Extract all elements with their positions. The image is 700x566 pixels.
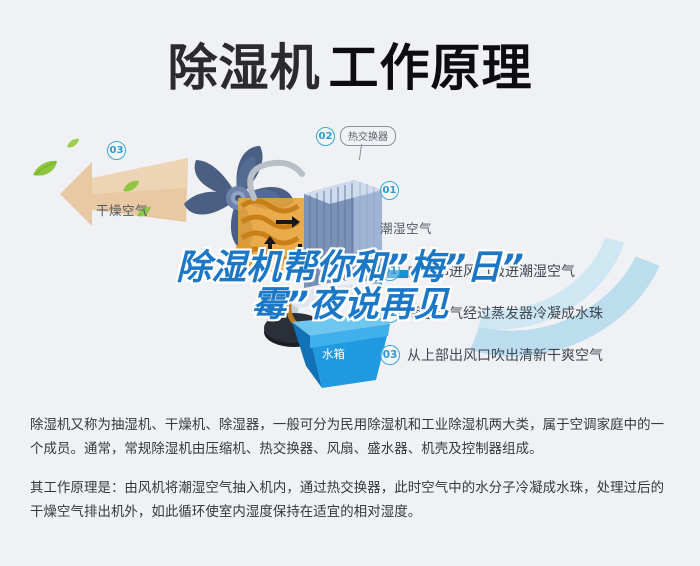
dry-air-badge: 03 <box>107 140 126 160</box>
page-title-topic: 工作原理 <box>329 39 533 97</box>
dehumidifier-diagram: 03 干燥空气 <box>0 118 700 408</box>
process-step-list: 01 由下部进风口吸进潮湿空气 02 潮湿空气经过蒸发器冷凝成水珠 03 从上部… <box>0 250 700 376</box>
process-step: 02 潮湿空气经过蒸发器冷凝成水珠 <box>380 292 700 334</box>
process-step: 03 从上部出风口吹出清新干爽空气 <box>380 334 700 376</box>
process-step-text: 潮湿空气经过蒸发器冷凝成水珠 <box>407 303 603 323</box>
process-step-text: 从上部出风口吹出清新干爽空气 <box>407 345 603 365</box>
dry-air-label: 干燥空气 <box>96 200 148 219</box>
leaf-icon <box>66 138 80 149</box>
page-title: 除湿机工作原理 <box>0 28 700 100</box>
humid-air-label: 潮湿空气 <box>380 218 432 237</box>
process-step-number: 01 <box>380 261 400 281</box>
leaf-icon <box>32 160 58 178</box>
body-paragraph-1: 除湿机又称为抽湿机、干燥机、除湿器，一般可分为民用除湿机和工业除湿机两大类，属于… <box>30 414 672 462</box>
humid-air-badge: 01 <box>380 180 399 200</box>
page-title-product: 除湿机 <box>168 39 321 97</box>
dry-air-badge-number: 03 <box>107 141 126 160</box>
heat-exchanger-badge-number: 02 <box>316 127 335 146</box>
body-copy: 除湿机又称为抽湿机、干燥机、除湿器，一般可分为民用除湿机和工业除湿机两大类，属于… <box>30 414 672 525</box>
leaf-icon <box>122 180 140 193</box>
process-step-number: 03 <box>380 345 400 365</box>
process-step-number: 02 <box>380 303 400 323</box>
infographic-page: 除湿机工作原理 03 干燥空气 <box>0 0 700 566</box>
heat-exchanger-callout: 02 热交换器 <box>316 126 396 146</box>
humid-air-badge-number: 01 <box>380 181 399 200</box>
body-paragraph-2: 其工作原理是：由风机将潮湿空气抽入机内，通过热交换器，此时空气中的水分子冷凝成水… <box>30 477 672 525</box>
heat-exchanger-label: 热交换器 <box>340 126 396 146</box>
process-step: 01 由下部进风口吸进潮湿空气 <box>380 250 700 292</box>
process-step-text: 由下部进风口吸进潮湿空气 <box>407 261 575 281</box>
